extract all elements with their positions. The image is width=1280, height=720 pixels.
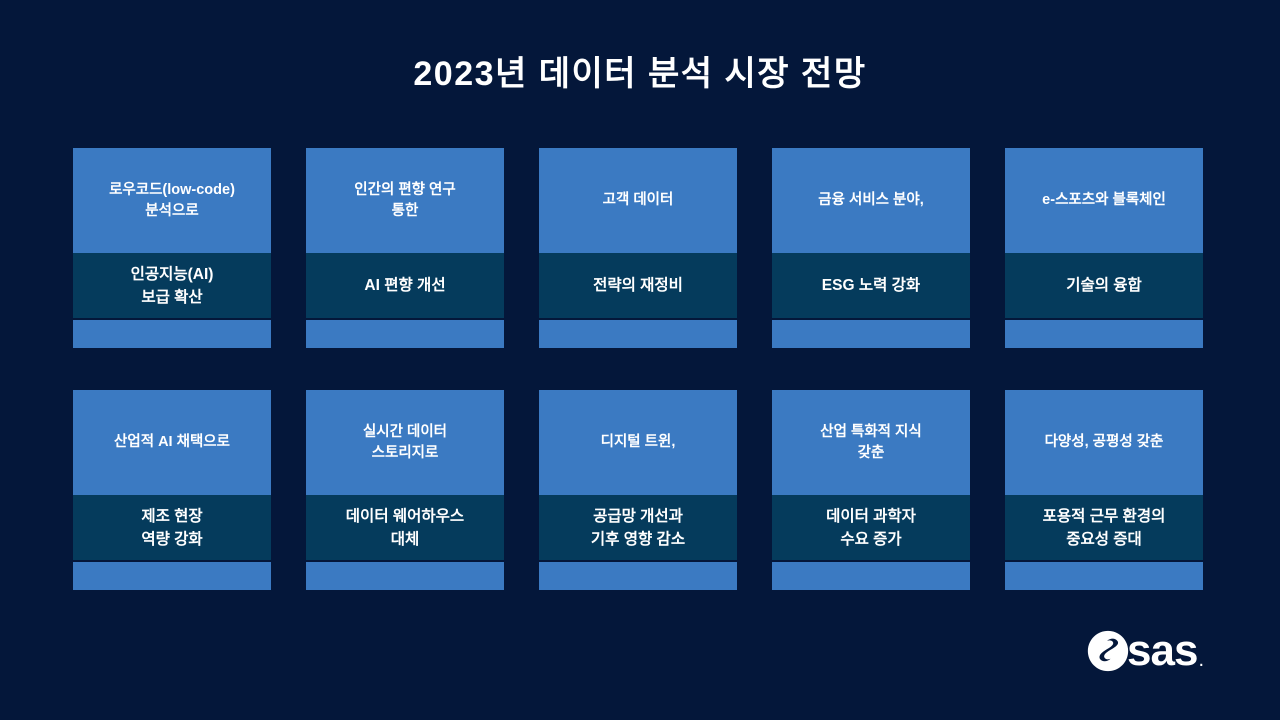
card-10-footer-bar bbox=[1005, 562, 1203, 590]
card-6-head-text: 산업적 AI 채택으로 bbox=[114, 432, 230, 453]
card-3-head: 고객 데이터 bbox=[539, 148, 737, 253]
card-1[interactable]: 로우코드(low-code) 분석으로 인공지능(AI) 보급 확산 bbox=[73, 148, 271, 348]
card-3[interactable]: 고객 데이터 전략의 재정비 bbox=[539, 148, 737, 348]
card-6-body-text: 제조 현장 역량 강화 bbox=[141, 505, 202, 551]
card-1-body-text: 인공지능(AI) 보급 확산 bbox=[131, 263, 214, 309]
card-3-body: 전략의 재정비 bbox=[539, 253, 737, 318]
card-6[interactable]: 산업적 AI 채택으로 제조 현장 역량 강화 bbox=[73, 390, 271, 590]
card-row-2: 산업적 AI 채택으로 제조 현장 역량 강화 실시간 데이터 스토리지로 데이… bbox=[73, 390, 1207, 590]
card-1-body: 인공지능(AI) 보급 확산 bbox=[73, 253, 271, 318]
card-10-body-text: 포용적 근무 환경의 중요성 증대 bbox=[1043, 505, 1166, 551]
card-7[interactable]: 실시간 데이터 스토리지로 데이터 웨어하우스 대체 bbox=[306, 390, 504, 590]
card-3-body-text: 전략의 재정비 bbox=[593, 274, 683, 297]
card-8-head: 디지털 트윈, bbox=[539, 390, 737, 495]
card-7-body: 데이터 웨어하우스 대체 bbox=[306, 495, 504, 560]
card-6-body: 제조 현장 역량 강화 bbox=[73, 495, 271, 560]
card-5[interactable]: e-스포츠와 블록체인 기술의 융합 bbox=[1005, 148, 1203, 348]
card-2-head-text: 인간의 편향 연구 통한 bbox=[354, 180, 455, 222]
card-10-head: 다양성, 공평성 갖춘 bbox=[1005, 390, 1203, 495]
card-1-head-text: 로우코드(low-code) 분석으로 bbox=[109, 180, 235, 222]
sas-wordmark: sas bbox=[1127, 629, 1197, 673]
card-8-body-text: 공급망 개선과 기후 영향 감소 bbox=[591, 505, 685, 551]
card-6-footer-bar bbox=[73, 562, 271, 590]
card-8-head-text: 디지털 트윈, bbox=[601, 432, 676, 453]
sas-swirl-icon bbox=[1087, 630, 1129, 672]
card-9-body: 데이터 과학자 수요 증가 bbox=[772, 495, 970, 560]
card-5-body-text: 기술의 융합 bbox=[1066, 274, 1142, 297]
page-title: 2023년 데이터 분석 시장 전망 bbox=[0, 52, 1280, 96]
card-2-body-text: AI 편향 개선 bbox=[364, 274, 445, 297]
card-5-footer-bar bbox=[1005, 320, 1203, 348]
card-2-body: AI 편향 개선 bbox=[306, 253, 504, 318]
card-7-footer-bar bbox=[306, 562, 504, 590]
card-9-body-text: 데이터 과학자 수요 증가 bbox=[826, 505, 916, 551]
card-9[interactable]: 산업 특화적 지식 갖춘 데이터 과학자 수요 증가 bbox=[772, 390, 970, 590]
card-5-head: e-스포츠와 블록체인 bbox=[1005, 148, 1203, 253]
card-5-head-text: e-스포츠와 블록체인 bbox=[1042, 190, 1166, 211]
card-8-body: 공급망 개선과 기후 영향 감소 bbox=[539, 495, 737, 560]
card-4-body-text: ESG 노력 강화 bbox=[822, 274, 920, 297]
card-8[interactable]: 디지털 트윈, 공급망 개선과 기후 영향 감소 bbox=[539, 390, 737, 590]
card-3-head-text: 고객 데이터 bbox=[603, 190, 674, 211]
card-2-footer-bar bbox=[306, 320, 504, 348]
card-4-footer-bar bbox=[772, 320, 970, 348]
card-1-footer-bar bbox=[73, 320, 271, 348]
sas-logo-dot: . bbox=[1198, 650, 1204, 670]
card-4-body: ESG 노력 강화 bbox=[772, 253, 970, 318]
card-10[interactable]: 다양성, 공평성 갖춘 포용적 근무 환경의 중요성 증대 bbox=[1005, 390, 1203, 590]
card-3-footer-bar bbox=[539, 320, 737, 348]
card-4[interactable]: 금융 서비스 분야, ESG 노력 강화 bbox=[772, 148, 970, 348]
card-6-head: 산업적 AI 채택으로 bbox=[73, 390, 271, 495]
slide-canvas: 2023년 데이터 분석 시장 전망 로우코드(low-code) 분석으로 인… bbox=[0, 0, 1280, 720]
card-10-body: 포용적 근무 환경의 중요성 증대 bbox=[1005, 495, 1203, 560]
card-2-head: 인간의 편향 연구 통한 bbox=[306, 148, 504, 253]
card-9-head-text: 산업 특화적 지식 갖춘 bbox=[820, 422, 921, 464]
card-row-1: 로우코드(low-code) 분석으로 인공지능(AI) 보급 확산 인간의 편… bbox=[73, 148, 1207, 348]
card-4-head: 금융 서비스 분야, bbox=[772, 148, 970, 253]
card-2[interactable]: 인간의 편향 연구 통한 AI 편향 개선 bbox=[306, 148, 504, 348]
card-9-head: 산업 특화적 지식 갖춘 bbox=[772, 390, 970, 495]
card-8-footer-bar bbox=[539, 562, 737, 590]
card-10-head-text: 다양성, 공평성 갖춘 bbox=[1045, 432, 1164, 453]
card-1-head: 로우코드(low-code) 분석으로 bbox=[73, 148, 271, 253]
card-9-footer-bar bbox=[772, 562, 970, 590]
card-7-head: 실시간 데이터 스토리지로 bbox=[306, 390, 504, 495]
sas-logo: sas . bbox=[1087, 628, 1204, 674]
card-grid: 로우코드(low-code) 분석으로 인공지능(AI) 보급 확산 인간의 편… bbox=[73, 148, 1207, 590]
card-7-body-text: 데이터 웨어하우스 대체 bbox=[346, 505, 464, 551]
card-4-head-text: 금융 서비스 분야, bbox=[818, 190, 923, 211]
card-7-head-text: 실시간 데이터 스토리지로 bbox=[363, 422, 447, 464]
card-5-body: 기술의 융합 bbox=[1005, 253, 1203, 318]
